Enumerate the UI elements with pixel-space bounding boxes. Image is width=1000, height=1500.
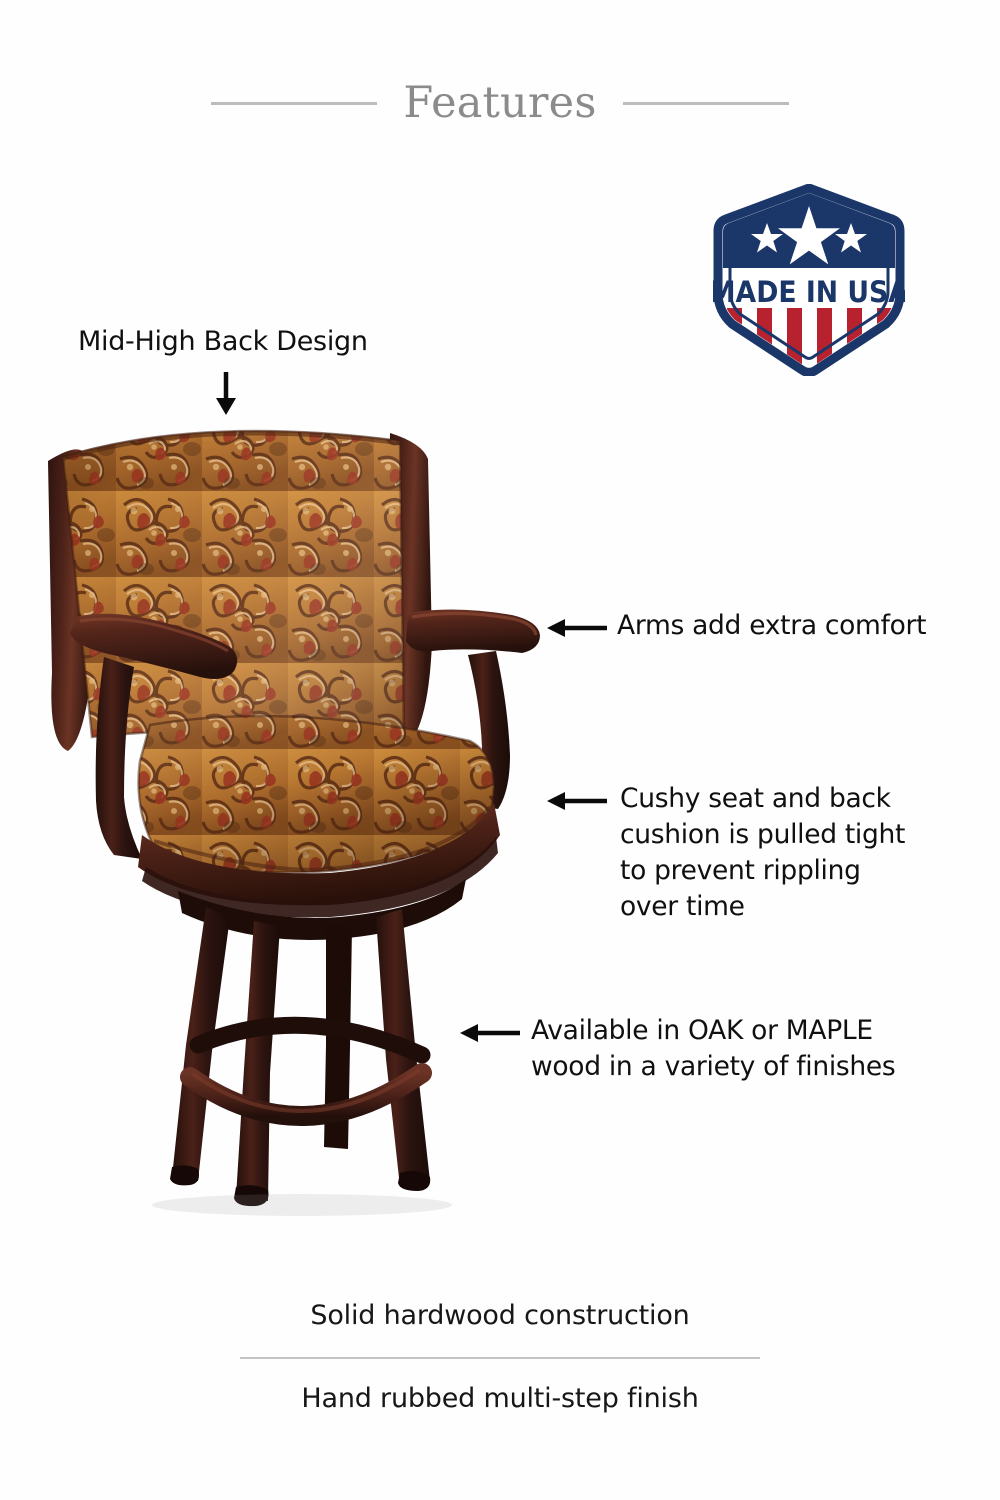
arrow-down-icon xyxy=(206,372,246,416)
badge-stripes xyxy=(713,308,905,376)
arrow-left-icon-arms xyxy=(546,617,608,639)
callout-label-wood-options: Available in OAK or MAPLE wood in a vari… xyxy=(531,1013,951,1085)
footer-divider xyxy=(240,1357,760,1359)
page-header: Features xyxy=(0,68,1000,138)
page-title: Features xyxy=(403,82,596,125)
chair-floor-shadow xyxy=(152,1194,452,1216)
features-infographic: Features xyxy=(0,0,1000,1500)
title-rule-right xyxy=(623,102,789,105)
chair-leg-front-left xyxy=(236,921,280,1201)
callout-label-cushy-seat: Cushy seat and back cushion is pulled ti… xyxy=(620,781,965,925)
footer-block: Solid hardwood construction Hand rubbed … xyxy=(0,1296,1000,1419)
callout-label-mid-high-back: Mid-High Back Design xyxy=(78,324,368,360)
callout-label-arms-comfort: Arms add extra comfort xyxy=(617,608,926,644)
badge-text: MADE IN USA xyxy=(713,275,905,309)
footer-line-construction: Solid hardwood construction xyxy=(0,1296,1000,1336)
swivel-bar-stool-image xyxy=(30,405,550,1225)
arrow-left-icon-cushion xyxy=(546,790,608,812)
arrow-left-icon-wood xyxy=(459,1022,521,1044)
footer-line-finish: Hand rubbed multi-step finish xyxy=(0,1379,1000,1419)
title-rule-left xyxy=(211,102,377,105)
made-in-usa-badge: MADE IN USA xyxy=(713,184,905,376)
